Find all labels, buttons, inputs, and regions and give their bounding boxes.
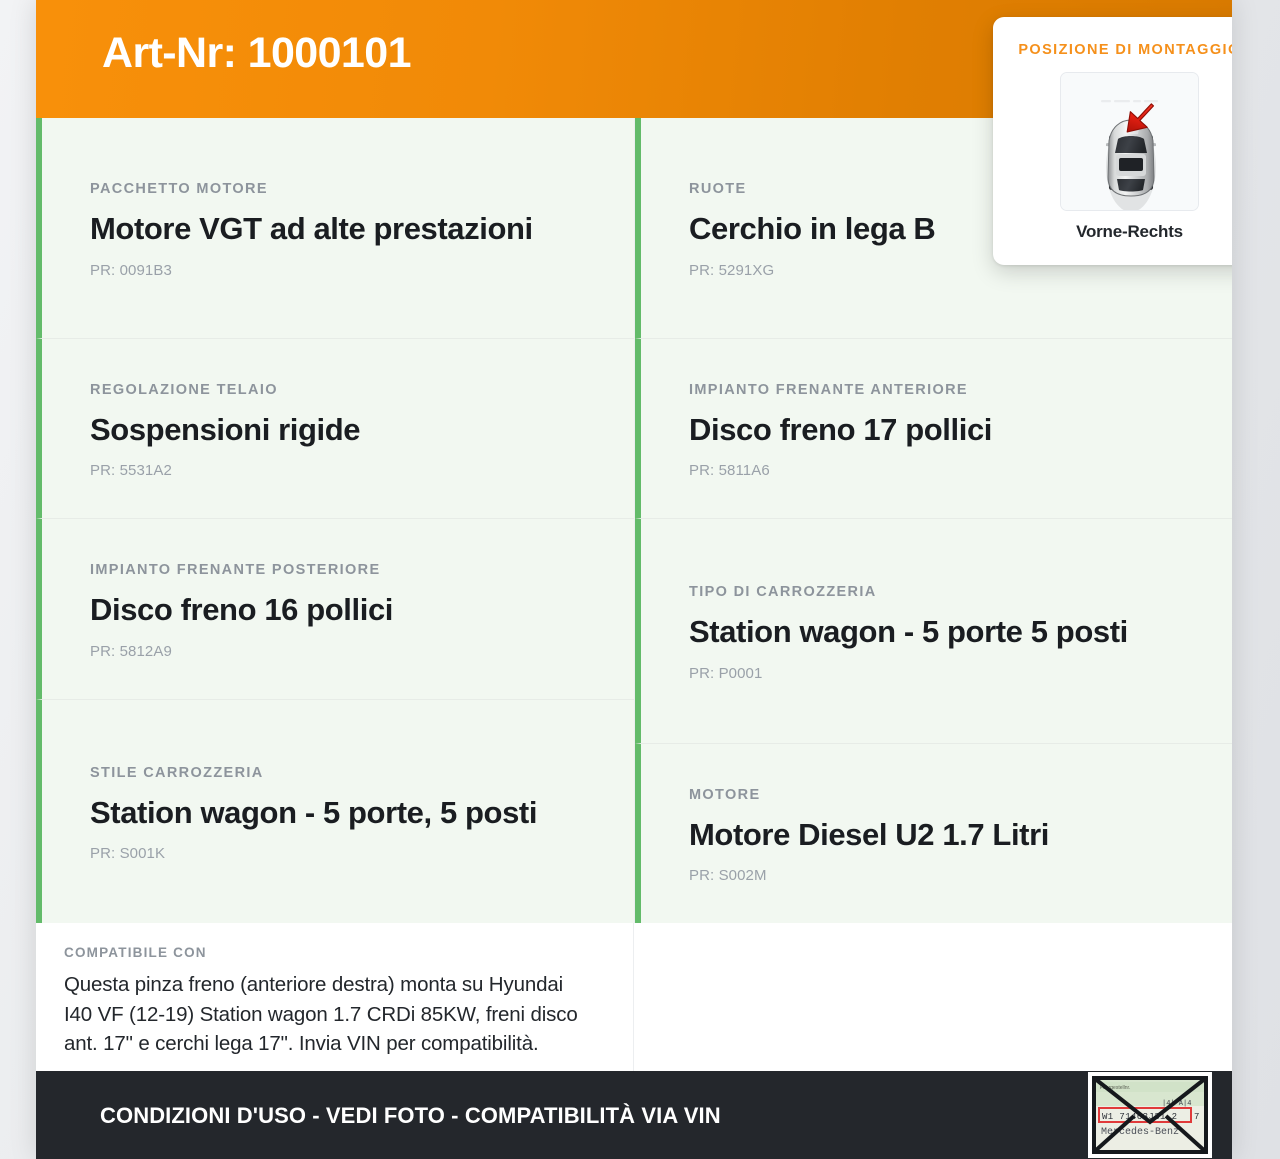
spec-card[interactable]: IMPIANTO FRENANTE POSTERIORE Disco freno… [36,519,634,700]
spec-pr-code: PR: 5812A9 [90,643,598,660]
mounting-position-card[interactable]: POSIZIONE DI MONTAGGIO [993,17,1232,265]
svg-text:7: 7 [1194,1112,1199,1122]
spec-pr-code: PR: P0001 [689,665,1196,682]
spec-card[interactable]: PACCHETTO MOTORE Motore VGT ad alte pres… [36,118,634,339]
spec-pr-code: PR: 5811A6 [689,462,1196,479]
listing-sheet: Art-Nr: 1000101 PACCHETTO MOTORE Motore … [36,0,1232,1159]
spec-label: STILE CARROZZERIA [90,765,598,781]
mounting-position-caption: Vorne-Rechts [993,222,1232,242]
compatibility-label: COMPATIBILE CON [64,945,593,960]
spec-value: Station wagon - 5 porte 5 posti [689,611,1196,654]
spec-label: TIPO DI CARROZZERIA [689,584,1196,600]
product-listing-page: Art-Nr: 1000101 PACCHETTO MOTORE Motore … [0,0,1280,1159]
page-title: Art-Nr: 1000101 [102,29,411,78]
spec-card[interactable]: REGOLAZIONE TELAIO Sospensioni rigide PR… [36,339,634,519]
specs-left-column: PACCHETTO MOTORE Motore VGT ad alte pres… [36,118,634,923]
spec-pr-code: PR: S002M [689,867,1196,884]
spec-pr-code: PR: S001K [90,845,598,862]
footer-terms-text: CONDIZIONI D'USO - VEDI FOTO - COMPATIBI… [100,1103,721,1129]
spec-label: IMPIANTO FRENANTE ANTERIORE [689,382,1196,398]
car-top-view-with-arrow-icon [1060,72,1199,211]
spec-card[interactable]: STILE CARROZZERIA Station wagon - 5 port… [36,700,634,923]
compatibility-text: Questa pinza freno (anteriore destra) mo… [64,970,593,1059]
compatibility-body: COMPATIBILE CON Questa pinza freno (ante… [36,923,634,1071]
spec-label: IMPIANTO FRENANTE POSTERIORE [90,562,598,578]
spec-value: Motore VGT ad alte prestazioni [90,208,598,251]
spec-card[interactable]: IMPIANTO FRENANTE ANTERIORE Disco freno … [635,339,1232,519]
envelope-vin-document-icon[interactable]: Fahrgestellnr. |4| A|4 W1 71463J31 2 7 M… [1088,1072,1212,1158]
spec-value: Disco freno 17 pollici [689,409,1196,452]
spec-pr-code: PR: 0091B3 [90,262,598,279]
spec-value: Motore Diesel U2 1.7 Litri [689,814,1196,857]
spec-label: MOTORE [689,787,1196,803]
compatibility-section: COMPATIBILE CON Questa pinza freno (ante… [36,923,1232,1071]
spec-card[interactable]: TIPO DI CARROZZERIA Station wagon - 5 po… [635,519,1232,744]
compatibility-empty-pane [634,923,1232,1071]
spec-value: Disco freno 16 pollici [90,589,598,632]
spec-value: Sospensioni rigide [90,409,598,452]
spec-value: Station wagon - 5 porte, 5 posti [90,792,598,835]
mounting-position-title: POSIZIONE DI MONTAGGIO [993,42,1232,58]
page-footer: CONDIZIONI D'USO - VEDI FOTO - COMPATIBI… [36,1071,1232,1159]
spec-pr-code: PR: 5531A2 [90,462,598,479]
spec-label: REGOLAZIONE TELAIO [90,382,598,398]
spec-label: PACCHETTO MOTORE [90,181,598,197]
spec-card[interactable]: MOTORE Motore Diesel U2 1.7 Litri PR: S0… [635,744,1232,923]
